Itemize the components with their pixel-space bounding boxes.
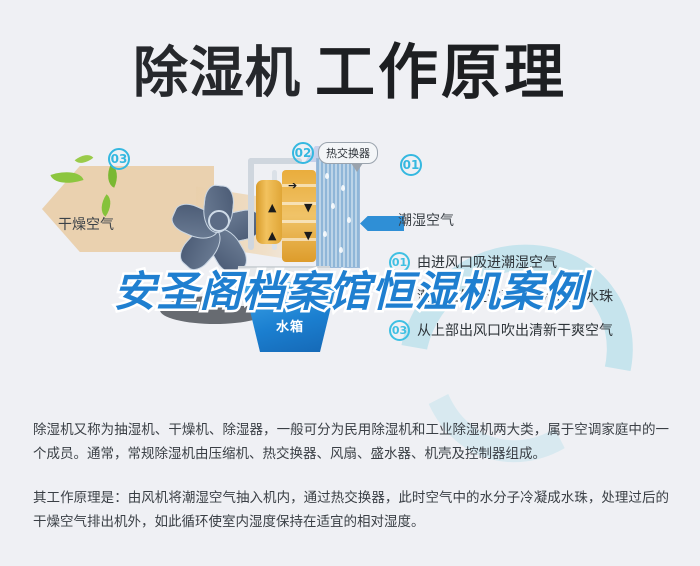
paragraph-one: 除湿机又称为抽湿机、干燥机、除湿器，一般可分为民用除湿机和工业除湿机两大类，属于… (33, 418, 669, 466)
page-title: 除湿机工作原理 (0, 24, 700, 111)
flow-arrow-down-icon: ▼ (304, 202, 312, 213)
flow-arrow-right-icon: ➔ (288, 180, 297, 191)
legend-text-03: 从上部出风口吹出清新干爽空气 (417, 320, 613, 340)
refrigerant-pipe (248, 158, 254, 250)
diagram-badge-02: 02 (292, 142, 314, 164)
leaf-icon (75, 150, 94, 168)
flow-arrow-up-icon: ▲ (268, 202, 276, 213)
heat-exchanger-callout: 热交换器 (318, 142, 378, 164)
flow-arrow-down-icon: ▼ (304, 230, 312, 241)
legend-badge-03: 03 (389, 320, 410, 341)
flow-arrow-up-icon: ▲ (268, 230, 276, 241)
dry-air-label: 干燥空气 (58, 214, 114, 234)
diagram-badge-01: 01 (400, 154, 422, 176)
infographic-page: 除湿机工作原理 ➔ (0, 0, 700, 566)
paragraph-two: 其工作原理是：由风机将潮湿空气抽入机内，通过热交换器，此时空气中的水分子冷凝成水… (33, 486, 669, 534)
description-block: 除湿机又称为抽湿机、干燥机、除湿器，一般可分为民用除湿机和工业除湿机两大类，属于… (33, 418, 669, 534)
title-part-two: 工作原理 (315, 38, 567, 108)
evaporator-fins (316, 158, 360, 268)
title-part-one: 除湿机 (133, 41, 301, 105)
fan-hub (208, 210, 230, 232)
moist-air-label: 潮湿空气 (398, 210, 454, 230)
watermark-text: 安圣阁档案馆恒湿机案例 (0, 258, 700, 319)
diagram-badge-03: 03 (108, 148, 130, 170)
